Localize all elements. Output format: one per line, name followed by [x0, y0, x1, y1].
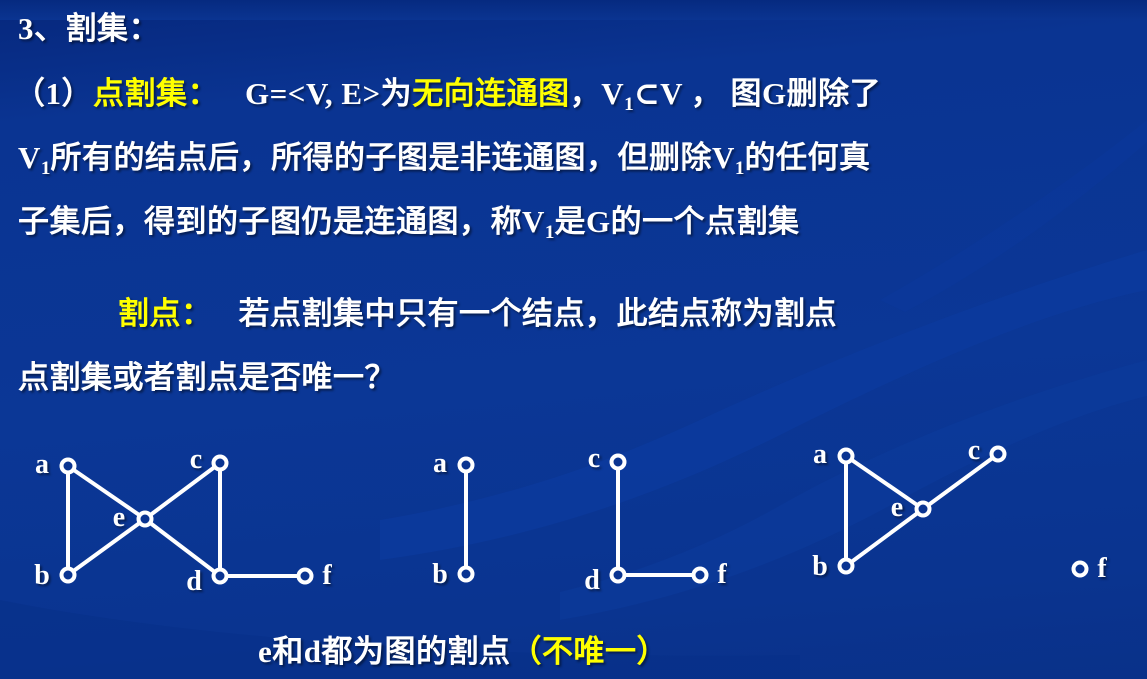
definition-line-3: 子集后，得到的子图仍是连通图，称V1是G的一个点割集 [18, 196, 800, 244]
caption-highlight-text: （不唯一） [511, 634, 669, 669]
graph-node-a [460, 459, 473, 472]
page-title: 3、割集： [18, 3, 160, 48]
definition-line-2: V1所有的结点后，所得的子图是非连通图，但删除V1的任何真 [18, 132, 871, 180]
graph-edge-b-e [68, 519, 145, 575]
line3-text-a: 子集后，得到的子图仍是连通图，称 [18, 204, 522, 239]
graph-node-f [299, 570, 312, 583]
line2-text-b: 的任何真 [745, 140, 871, 175]
graph-node-e [917, 503, 930, 516]
graph-edge-d-e [145, 519, 220, 576]
graph-edge-c-e [923, 454, 998, 509]
graph-remove-d [840, 448, 1087, 576]
symbol-v1: V [601, 76, 624, 111]
graph-node-label-b: b [432, 559, 448, 591]
graph-node-f [694, 569, 707, 582]
graph-node-label-a: a [35, 449, 49, 481]
term-cut-vertex: 割点： [118, 296, 213, 331]
symbol-v1-subscript: 1 [41, 158, 51, 179]
definition-line-4: 割点：若点割集中只有一个结点，此结点称为割点 [118, 288, 837, 333]
symbol-v1: V [712, 140, 735, 175]
graph-remove-e [460, 456, 707, 582]
graph-node-label-b: b [34, 560, 50, 592]
graph-node-label-d: d [186, 566, 202, 598]
definition-line-1: （1）点割集：G=<V, E>为无向连通图，V1⊂V ， 图G删除了 [14, 68, 881, 116]
slide-caption: e和d都为图的割点（不唯一） [258, 626, 668, 671]
graph-node-label-f: f [1097, 553, 1106, 585]
graph-node-label-c: c [588, 443, 600, 475]
symbol-v1-subscript: 1 [735, 158, 745, 179]
graph-node-f [1074, 563, 1087, 576]
line4-text: 若点割集中只有一个结点，此结点称为割点 [239, 296, 838, 331]
symbol-v1: V [522, 204, 545, 239]
graph-edge-c-e [145, 463, 220, 519]
graph-original [62, 457, 312, 583]
symbol-v1-subscript: 1 [545, 222, 555, 243]
item-number: （1） [14, 76, 93, 111]
definition-line-5: 点割集或者割点是否唯一？ [18, 352, 396, 397]
graph-node-label-c: c [968, 435, 980, 467]
line3-text-b: 是G的一个点割集 [555, 204, 800, 239]
graph-node-c [612, 456, 625, 469]
graph-node-label-a: a [433, 448, 447, 480]
graph-node-label-e: e [113, 502, 125, 534]
graph-node-d [612, 569, 625, 582]
graph-node-label-a: a [813, 439, 827, 471]
graph-node-a [840, 450, 853, 463]
graph-edge-a-e [68, 466, 145, 519]
graph-node-c [214, 457, 227, 470]
graph-edge-a-e [846, 456, 923, 509]
graph-node-d [214, 570, 227, 583]
line1-tail: ⊂V ， 图G删除了 [634, 76, 881, 111]
graph-node-b [460, 568, 473, 581]
symbol-v1: V [18, 140, 41, 175]
graph-node-label-b: b [812, 551, 828, 583]
graph-node-label-c: c [190, 444, 202, 476]
graph-diagram-row: abcdefabcdfabcef [0, 430, 1147, 605]
graph-edge-b-e [846, 509, 923, 566]
caption-main-text: e和d都为图的割点 [258, 634, 511, 669]
graph-node-label-f: f [322, 560, 331, 592]
graph-node-c [992, 448, 1005, 461]
title-text: 3、割集： [18, 11, 160, 46]
graph-node-b [62, 569, 75, 582]
symbol-v1-subscript: 1 [624, 94, 634, 115]
graph-node-e [139, 513, 152, 526]
graph-node-a [62, 460, 75, 473]
graph-node-b [840, 560, 853, 573]
graph-node-label-e: e [891, 492, 903, 524]
graph-node-label-f: f [717, 559, 726, 591]
slide-canvas: 3、割集： （1）点割集：G=<V, E>为无向连通图，V1⊂V ， 图G删除了… [0, 0, 1147, 679]
term-undirected-connected-graph: 无向连通图 [412, 76, 570, 111]
slide-top-band [0, 0, 1147, 20]
term-vertex-cut-set: 点割集： [93, 76, 219, 111]
line2-text-a: 所有的结点后，所得的子图是非连通图，但删除 [51, 140, 713, 175]
graph-notation: G=<V, E>为 [245, 76, 412, 111]
comma-1: ， [570, 76, 602, 111]
question-text: 点割集或者割点是否唯一？ [18, 360, 396, 395]
graph-node-label-d: d [584, 565, 600, 597]
